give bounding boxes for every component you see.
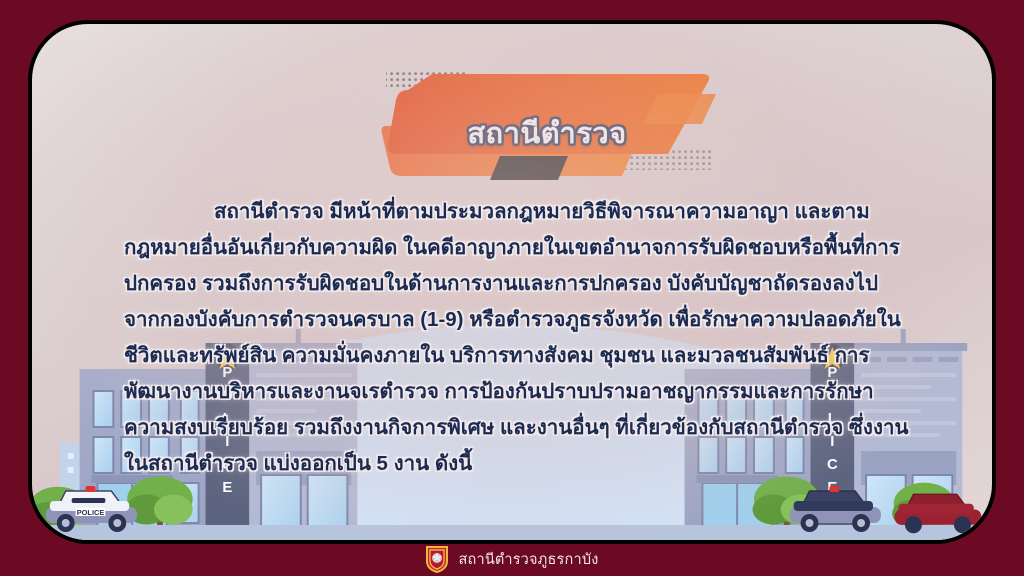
footer-label: สถานีตำรวจภูธรกาบัง: [458, 548, 598, 571]
content-card: POLICE: [28, 20, 996, 544]
footer-bar: สถานีตำรวจภูธรกาบัง: [0, 542, 1024, 576]
police-emblem-icon: [425, 545, 449, 573]
banner-title-text: สถานีตำรวจ: [372, 110, 722, 156]
slide-root: POLICE: [0, 0, 1024, 576]
title-banner: สถานีตำรวจ: [372, 72, 722, 187]
body-paragraph: สถานีตำรวจ มีหน้าที่ตามประมวลกฎหมายวิธีพ…: [124, 194, 910, 482]
